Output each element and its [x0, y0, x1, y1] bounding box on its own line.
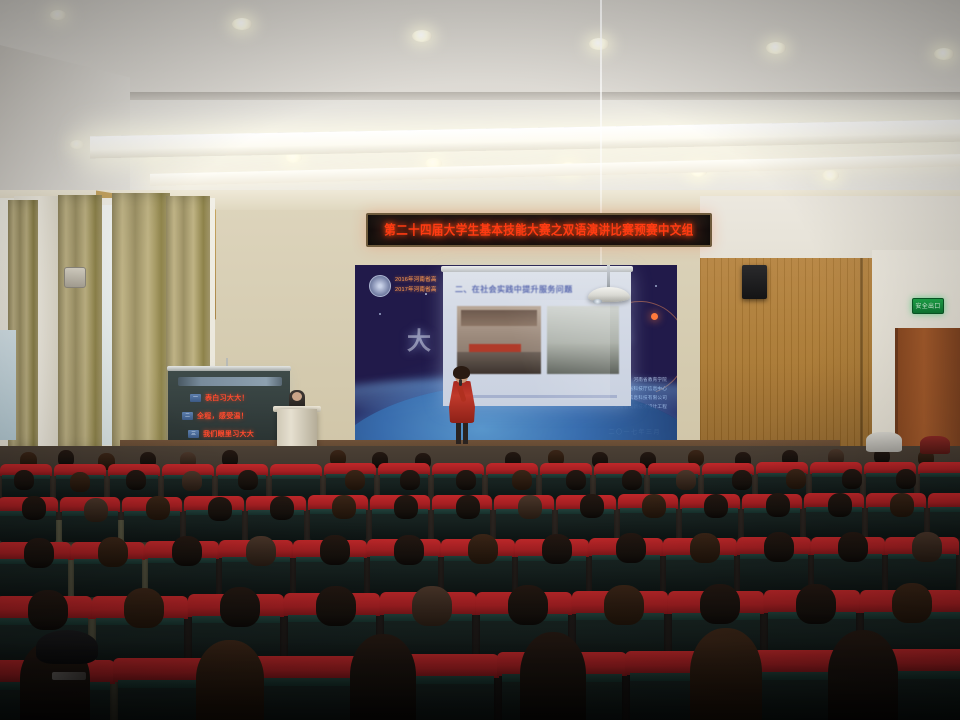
audience-person: [842, 469, 862, 489]
audience-person: [270, 496, 294, 520]
audience-person: [394, 535, 424, 565]
presenter: [447, 368, 477, 448]
downlight-icon: [50, 10, 66, 20]
presenter-leg: [463, 422, 468, 444]
audience-shoulders: [866, 432, 902, 452]
downlight-icon: [934, 48, 954, 60]
side-screen-header-bar: [178, 377, 282, 386]
slide-photo-right: [547, 306, 619, 374]
audience-person: [182, 471, 202, 491]
audience-person: [28, 590, 68, 630]
audience-person: [172, 536, 202, 566]
audience-person: [70, 472, 90, 492]
ceiling-wall-seam: [600, 0, 602, 300]
audience-person: [98, 537, 128, 567]
audience-person: [412, 586, 452, 626]
audience-person: [124, 588, 164, 628]
audience-cap-logo: [52, 672, 86, 680]
curtain: [112, 193, 170, 451]
audience-person: [320, 535, 350, 565]
side-screen-row-number: 三: [188, 430, 199, 438]
exit-sign-label: 安全出口: [913, 301, 943, 310]
auditorium-photo: 安全出口 第二十四届大学生基本技能大赛之双语演讲比赛预赛中文组 大 见 2016…: [0, 0, 960, 720]
side-screen-row-text: 全程，感受温！: [197, 411, 248, 421]
audience-person: [622, 470, 642, 490]
audience-person: [890, 493, 914, 517]
audience-person: [22, 496, 46, 520]
wood-panel-seam: [860, 258, 863, 448]
microphone-icon: [459, 379, 462, 386]
slide-title: 二、在社会实践中提升服务问题: [455, 284, 573, 295]
audience-person: [838, 532, 868, 562]
audience-person: [316, 586, 356, 626]
led-banner: 第二十四届大学生基本技能大赛之双语演讲比赛预赛中文组: [366, 213, 712, 247]
audience-person: [246, 536, 276, 566]
audience-person: [345, 470, 365, 490]
audience-person: [732, 470, 752, 490]
audience-person: [690, 533, 720, 563]
backdrop-line-2: 2017年河南省高: [395, 285, 437, 293]
audience-person: [542, 534, 572, 564]
audience-person: [766, 493, 790, 517]
audience-person-foreground: [828, 630, 898, 720]
university-emblem-icon: [369, 275, 391, 297]
audience-cap: [36, 630, 98, 664]
audience-person: [394, 495, 418, 519]
slide-footer-rule: [457, 395, 617, 398]
side-screen-row-text: 我们眼里习大大: [203, 429, 254, 439]
audience-person-foreground: [350, 634, 416, 720]
projector-mount-pole: [607, 265, 610, 289]
window-glass: [0, 330, 16, 440]
audience-person: [512, 470, 532, 490]
audience-person: [912, 532, 942, 562]
ceiling-soffit: [0, 92, 960, 100]
audience-person: [580, 494, 604, 518]
ceiling-panel-upper: [0, 0, 960, 95]
audience-person: [14, 470, 34, 490]
downlight-icon: [766, 42, 786, 54]
audience-person: [642, 494, 666, 518]
projector-lens-icon: [593, 299, 602, 304]
backdrop-line-1: 2016年河南省高: [395, 275, 437, 283]
side-screen-row-text: 表白习大大！: [205, 393, 249, 403]
auditorium-seat: [246, 660, 366, 720]
side-screen-row: 二 全程，感受温！: [182, 411, 248, 421]
audience-person-foreground: [196, 640, 264, 720]
audience-person: [700, 584, 740, 624]
audience-person: [566, 470, 586, 490]
downlight-icon: [232, 18, 252, 30]
exit-sign: 安全出口: [912, 298, 944, 314]
audience-person: [892, 583, 932, 623]
side-screen-row: 三 我们眼里习大大: [188, 429, 254, 439]
presenter-hair: [453, 366, 470, 379]
curtain: [58, 195, 102, 450]
podium-operator-face: [292, 392, 302, 401]
audience-person: [796, 584, 836, 624]
audience-person: [332, 495, 356, 519]
wall-speaker-right: [742, 265, 767, 299]
wall-speaker-left: [64, 267, 86, 288]
audience-person: [220, 587, 260, 627]
audience-person: [146, 496, 170, 520]
audience-person: [208, 497, 232, 521]
audience-person: [84, 498, 108, 522]
audience-person: [704, 494, 728, 518]
downlight-icon: [70, 140, 84, 149]
backdrop-dot-decoration: [651, 313, 658, 320]
door-right[interactable]: [895, 328, 960, 453]
side-screen-row-number: 一: [190, 394, 201, 402]
side-screen-row-number: 二: [182, 412, 193, 420]
audience-person: [896, 469, 916, 489]
projection-screen-side: 一 表白习大大！ 二 全程，感受温！ 三 我们眼里习大大: [168, 371, 290, 449]
audience-person: [616, 533, 646, 563]
audience-person: [828, 493, 852, 517]
side-screen-row: 一 表白习大大！: [190, 393, 249, 403]
auditorium-seat: [930, 496, 960, 538]
audience-person-foreground: [520, 632, 586, 720]
audience-person: [468, 534, 498, 564]
presenter-leg: [456, 422, 461, 444]
slide-photo-left: [457, 306, 541, 374]
audience-person: [786, 469, 806, 489]
audience-person: [456, 495, 480, 519]
downlight-icon: [822, 170, 839, 181]
backdrop-big-text-left: 大: [407, 321, 436, 356]
led-banner-text: 第二十四届大学生基本技能大赛之双语演讲比赛预赛中文组: [384, 221, 693, 239]
audience-person-foreground: [690, 628, 762, 720]
audience-person: [126, 470, 146, 490]
audience-person: [456, 470, 476, 490]
downlight-icon: [412, 30, 432, 42]
audience-shoulders: [920, 436, 950, 454]
audience-person: [764, 532, 794, 562]
audience-person: [676, 470, 696, 490]
audience-person: [508, 585, 548, 625]
downlight-icon: [589, 38, 609, 50]
audience-person: [604, 585, 644, 625]
audience-person: [518, 495, 542, 519]
ceiling: [0, 0, 960, 215]
audience-person: [238, 470, 258, 490]
audience-person: [400, 470, 420, 490]
audience-person: [24, 538, 54, 568]
